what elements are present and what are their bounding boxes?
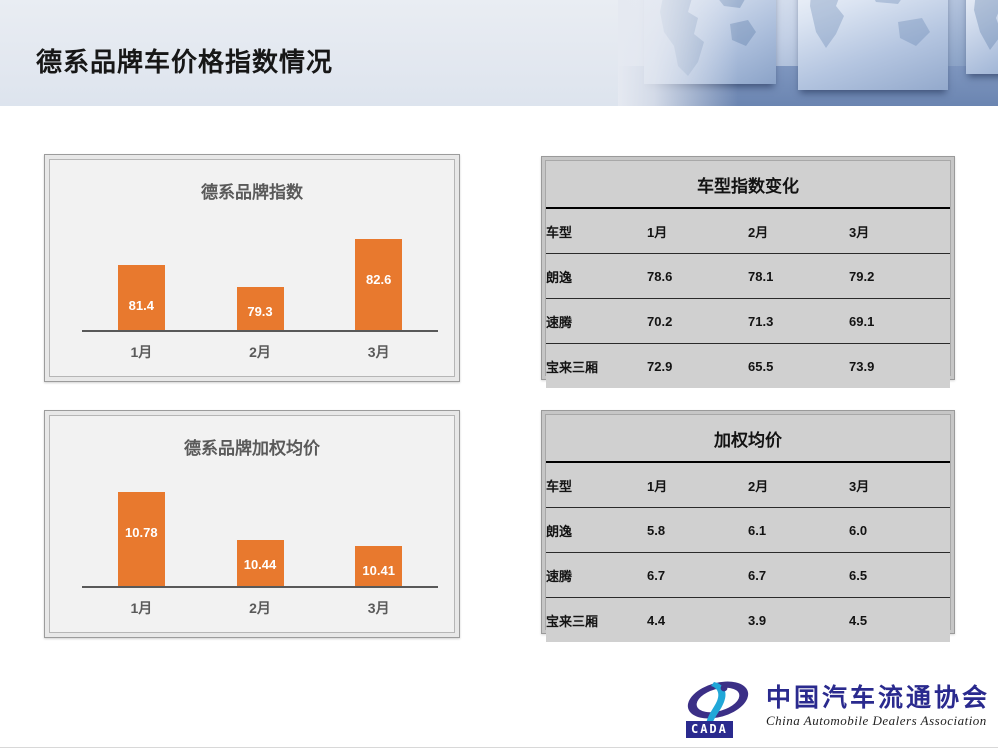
bar-value-label: 82.6 (355, 273, 402, 286)
bar-weighted-avg-mar[interactable]: 10.41 (355, 546, 402, 586)
table-header-row: 车型 1月 2月 3月 (546, 462, 950, 508)
bar-value-label: 10.41 (355, 564, 402, 577)
cell-value-mar: 6.0 (849, 508, 950, 553)
x-axis-line (82, 586, 438, 588)
table-panel-weighted-avg-price: 加权均价 车型 1月 2月 3月 朗逸 5.8 6.1 6.0 速腾 6.7 6… (541, 410, 955, 634)
chart-panel-weighted-avg-price: 德系品牌加权均价 10.78 10.44 10.41 (44, 410, 460, 638)
cell-value-feb: 6.7 (748, 553, 849, 598)
plot-area-weighted-avg-price: 10.78 10.44 10.41 (82, 466, 438, 588)
cell-value-feb: 6.1 (748, 508, 849, 553)
cell-value-jan: 70.2 (647, 299, 748, 344)
category-label-mar: 3月 (319, 598, 438, 618)
table-title: 加权均价 (546, 415, 950, 462)
bar-value-label: 10.44 (237, 558, 284, 571)
column-header-model: 车型 (546, 208, 647, 254)
column-header-jan: 1月 (647, 208, 748, 254)
bar-slot: 82.6 (319, 210, 438, 330)
logo-name-chinese: 中国汽车流通协会 (766, 685, 990, 713)
category-label-mar: 3月 (319, 342, 438, 362)
table-title: 车型指数变化 (546, 161, 950, 208)
table-row: 朗逸 5.8 6.1 6.0 (546, 508, 950, 553)
cell-value-mar: 73.9 (849, 344, 950, 389)
bar-slot: 10.41 (319, 466, 438, 586)
bar-brand-index-mar[interactable]: 82.6 (355, 239, 402, 330)
category-label-jan: 1月 (82, 598, 201, 618)
cada-logo-mark: CADA (684, 676, 756, 738)
decorative-cube-3 (966, 0, 998, 74)
x-axis-line (82, 330, 438, 332)
plot-area-brand-index: 81.4 79.3 82.6 (82, 210, 438, 332)
bar-weighted-avg-feb[interactable]: 10.44 (237, 540, 284, 586)
table-row: 宝来三厢 4.4 3.9 4.5 (546, 598, 950, 643)
bar-brand-index-feb[interactable]: 79.3 (237, 287, 284, 330)
page-footer: CADA 中国汽车流通协会 China Automobile Dealers A… (0, 672, 998, 752)
bar-slot: 10.44 (201, 466, 320, 586)
table-row: 朗逸 78.6 78.1 79.2 (546, 254, 950, 299)
cell-model-name: 朗逸 (546, 508, 647, 553)
cell-model-name: 朗逸 (546, 254, 647, 299)
table-title-row: 车型指数变化 (546, 161, 950, 208)
bar-value-label: 81.4 (118, 299, 165, 312)
cell-value-mar: 69.1 (849, 299, 950, 344)
table-weighted-avg-price: 加权均价 车型 1月 2月 3月 朗逸 5.8 6.1 6.0 速腾 6.7 6… (546, 415, 950, 642)
cada-badge-text: CADA (686, 721, 733, 738)
cell-value-jan: 6.7 (647, 553, 748, 598)
cell-value-jan: 4.4 (647, 598, 748, 643)
bar-slot: 10.78 (82, 466, 201, 586)
organization-logo: CADA 中国汽车流通协会 China Automobile Dealers A… (684, 676, 990, 738)
cell-value-feb: 65.5 (748, 344, 849, 389)
cell-model-name: 速腾 (546, 299, 647, 344)
column-header-feb: 2月 (748, 462, 849, 508)
cell-model-name: 宝来三厢 (546, 598, 647, 643)
header-art-fade (618, 0, 738, 106)
cell-value-feb: 78.1 (748, 254, 849, 299)
bar-value-label: 79.3 (237, 305, 284, 318)
cell-value-feb: 71.3 (748, 299, 849, 344)
table-panel-model-index-change: 车型指数变化 车型 1月 2月 3月 朗逸 78.6 78.1 79.2 速腾 … (541, 156, 955, 380)
logo-text-block: 中国汽车流通协会 China Automobile Dealers Associ… (766, 685, 990, 730)
bar-slot: 79.3 (201, 210, 320, 330)
logo-name-english: China Automobile Dealers Association (766, 713, 990, 729)
table-model-index-change: 车型指数变化 车型 1月 2月 3月 朗逸 78.6 78.1 79.2 速腾 … (546, 161, 950, 388)
column-header-mar: 3月 (849, 208, 950, 254)
column-header-feb: 2月 (748, 208, 849, 254)
cell-model-name: 宝来三厢 (546, 344, 647, 389)
world-map-icon (798, 0, 948, 90)
bar-weighted-avg-jan[interactable]: 10.78 (118, 492, 165, 586)
bar-slot: 81.4 (82, 210, 201, 330)
header-decoration-cubes (618, 0, 998, 106)
table-row: 速腾 70.2 71.3 69.1 (546, 299, 950, 344)
cell-value-mar: 79.2 (849, 254, 950, 299)
table-row: 宝来三厢 72.9 65.5 73.9 (546, 344, 950, 389)
bar-brand-index-jan[interactable]: 81.4 (118, 265, 165, 330)
category-label-feb: 2月 (201, 598, 320, 618)
category-axis-brand-index: 1月 2月 3月 (82, 342, 438, 362)
table-title-row: 加权均价 (546, 415, 950, 462)
table-row: 速腾 6.7 6.7 6.5 (546, 553, 950, 598)
column-header-jan: 1月 (647, 462, 748, 508)
bar-group-brand-index: 81.4 79.3 82.6 (82, 210, 438, 330)
chart-title-brand-index: 德系品牌指数 (50, 178, 454, 203)
world-map-icon (966, 0, 998, 74)
chart-title-weighted-avg-price: 德系品牌加权均价 (50, 434, 454, 459)
page-title: 德系品牌车价格指数情况 (36, 42, 333, 79)
bar-group-weighted-avg-price: 10.78 10.44 10.41 (82, 466, 438, 586)
chart-inner-weighted-avg-price: 德系品牌加权均价 10.78 10.44 10.41 (50, 416, 454, 632)
table-header-row: 车型 1月 2月 3月 (546, 208, 950, 254)
chart-panel-brand-index: 德系品牌指数 81.4 79.3 82.6 (44, 154, 460, 382)
column-header-mar: 3月 (849, 462, 950, 508)
page-header: 德系品牌车价格指数情况 (0, 0, 998, 106)
category-label-feb: 2月 (201, 342, 320, 362)
cell-model-name: 速腾 (546, 553, 647, 598)
bar-value-label: 10.78 (118, 526, 165, 539)
footer-divider (0, 747, 998, 748)
cell-value-mar: 4.5 (849, 598, 950, 643)
decorative-cube-2 (798, 0, 948, 90)
cell-value-jan: 5.8 (647, 508, 748, 553)
cell-value-feb: 3.9 (748, 598, 849, 643)
column-header-model: 车型 (546, 462, 647, 508)
category-label-jan: 1月 (82, 342, 201, 362)
category-axis-weighted-avg-price: 1月 2月 3月 (82, 598, 438, 618)
chart-inner-brand-index: 德系品牌指数 81.4 79.3 82.6 (50, 160, 454, 376)
cell-value-jan: 78.6 (647, 254, 748, 299)
cell-value-jan: 72.9 (647, 344, 748, 389)
cell-value-mar: 6.5 (849, 553, 950, 598)
